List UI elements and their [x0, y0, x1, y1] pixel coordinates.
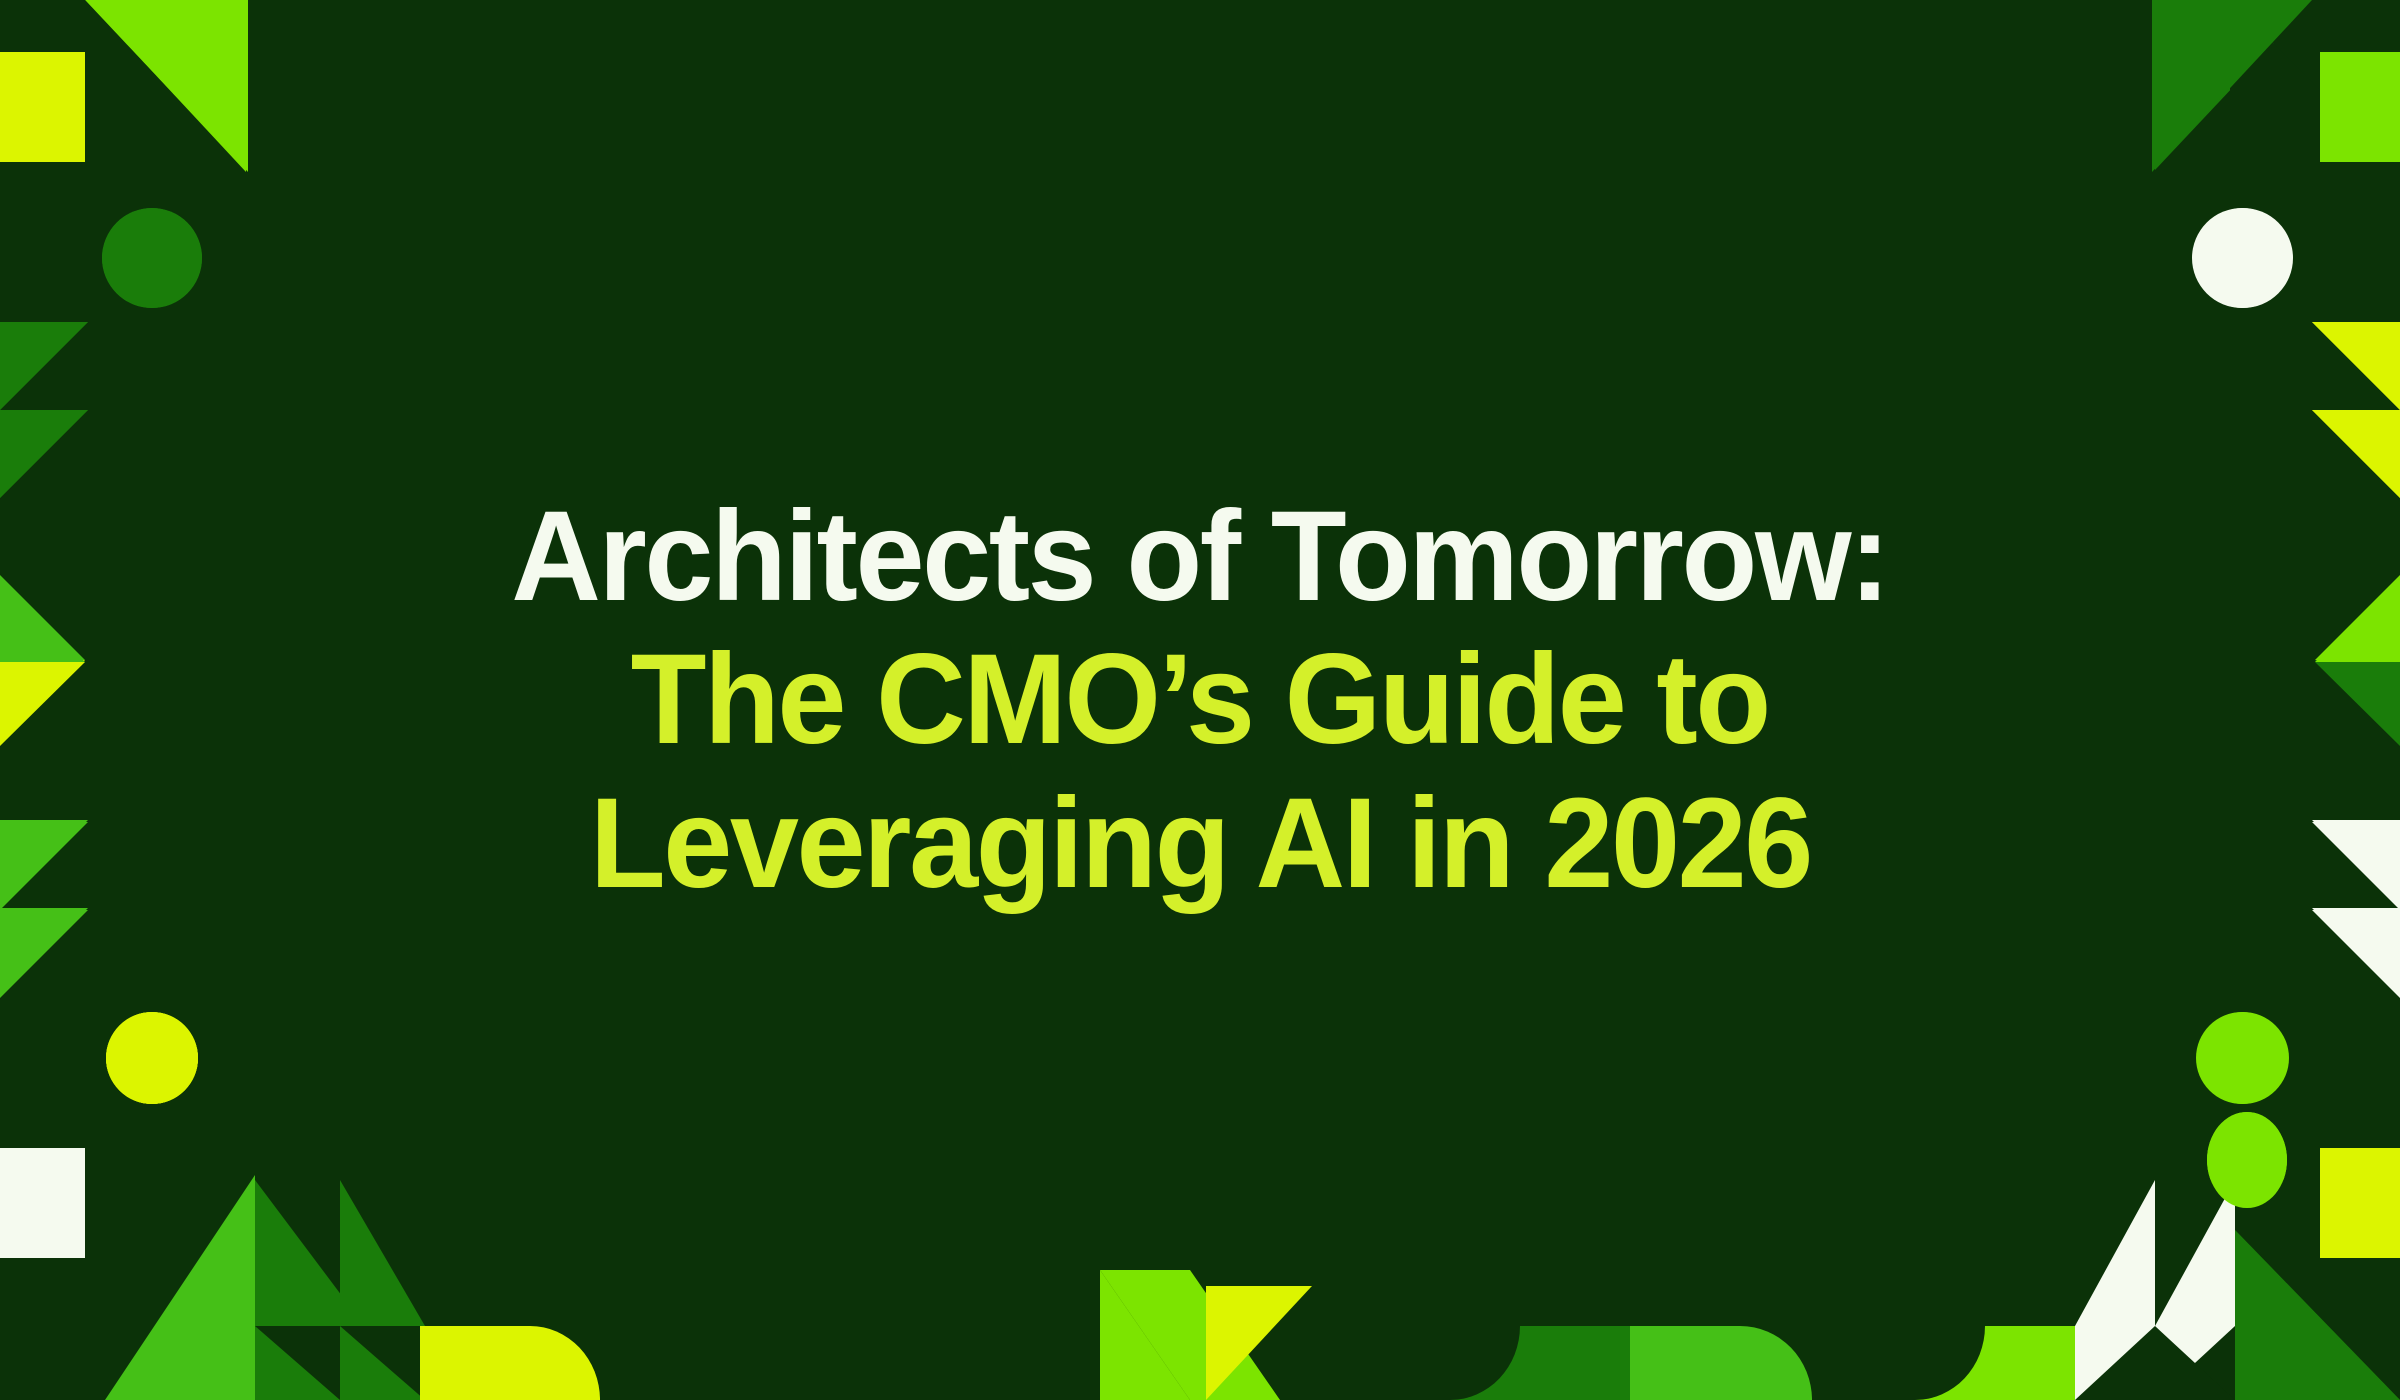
geometric-border-pattern	[0, 0, 2400, 1400]
left-yellow-circle	[106, 1012, 198, 1104]
left-cream-square	[0, 1148, 85, 1258]
left-dark-circle	[102, 208, 202, 308]
right-cream-circle	[2193, 208, 2293, 308]
slide-canvas: Architects of Tomorrow: The CMO’s Guide …	[0, 0, 2400, 1400]
left-yellow-square	[0, 52, 85, 162]
right-lime-square	[2320, 52, 2400, 162]
right-lime-circle	[2197, 1012, 2289, 1104]
